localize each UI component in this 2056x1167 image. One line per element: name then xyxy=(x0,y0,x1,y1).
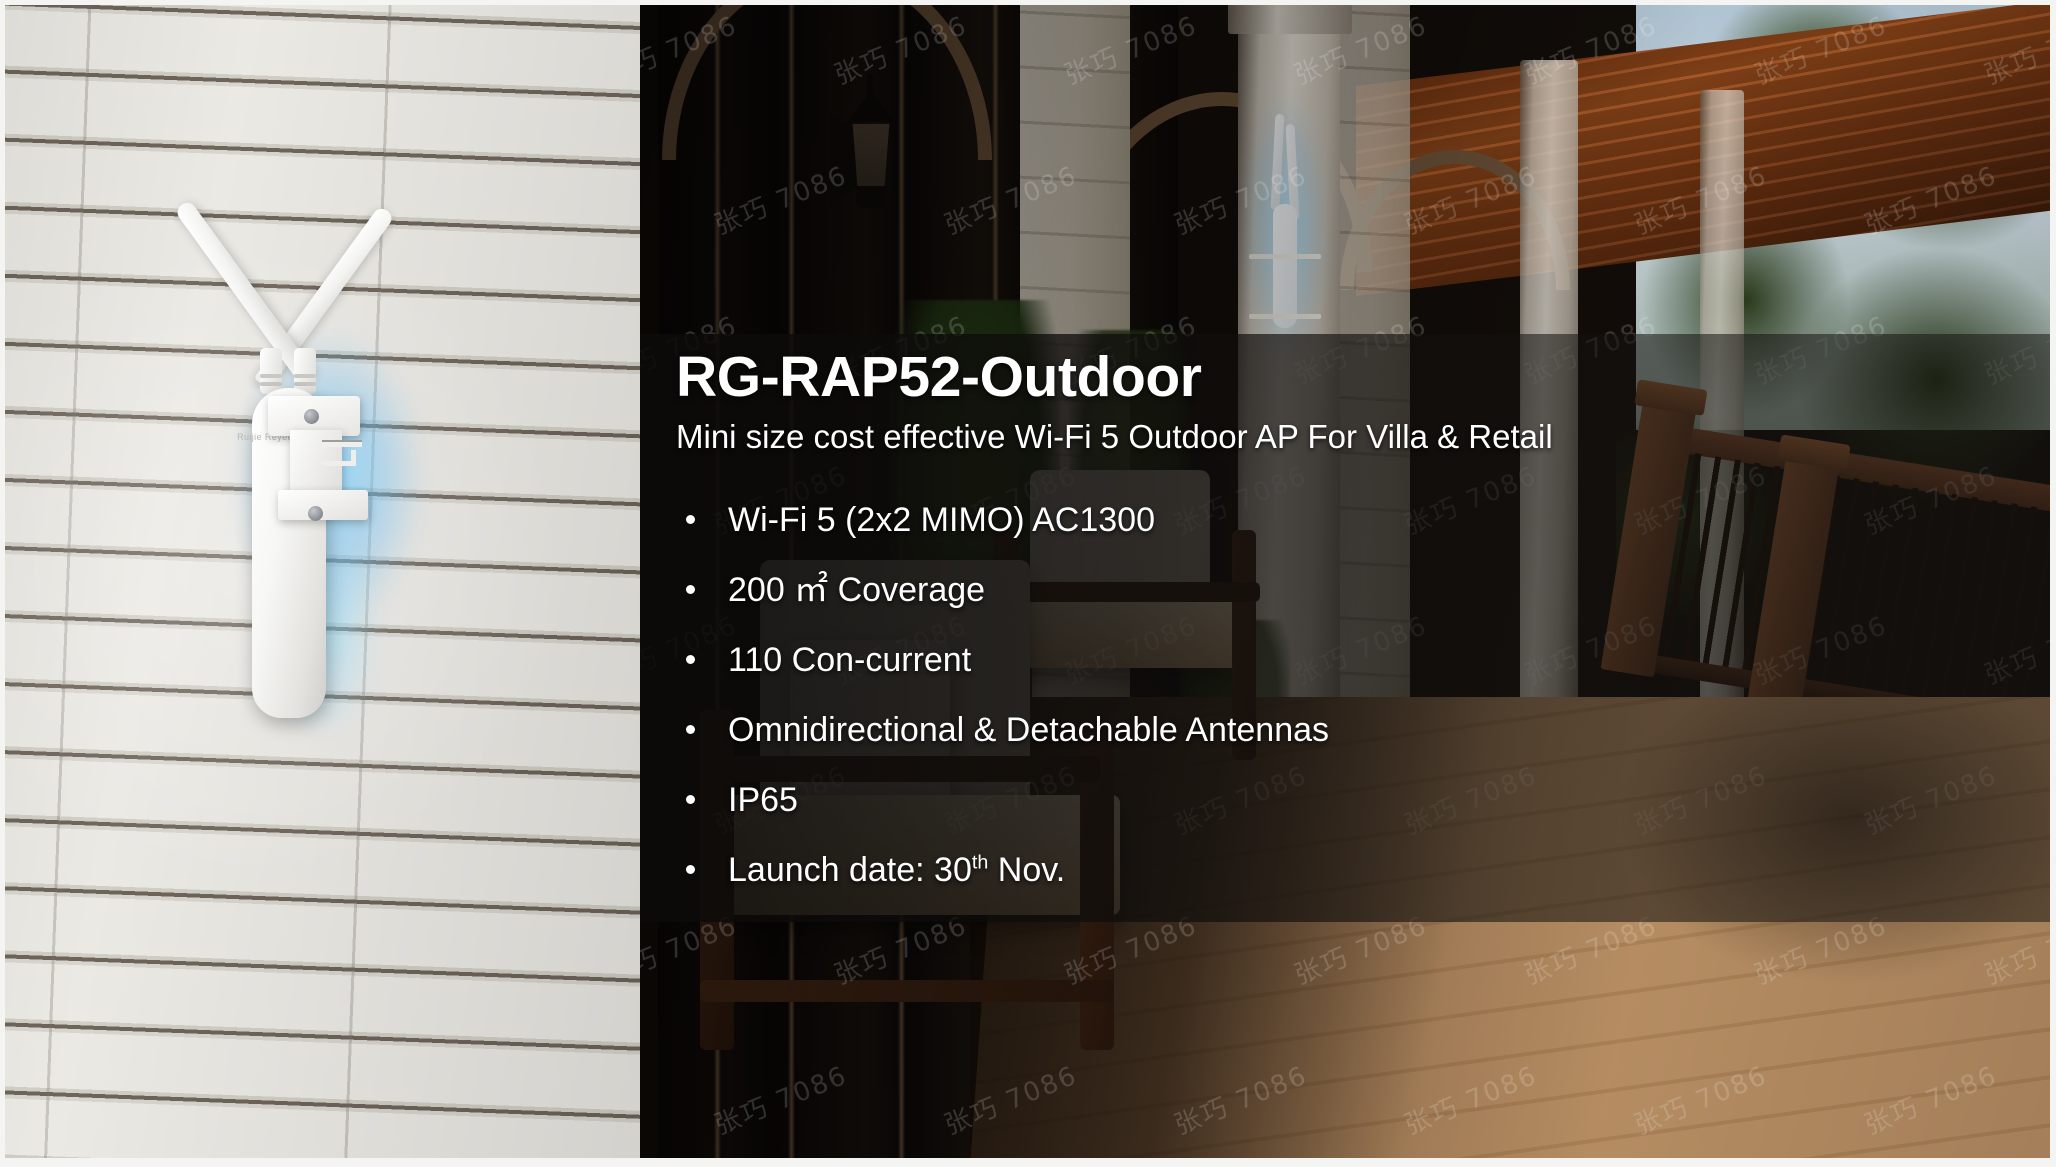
bullet-dot-icon xyxy=(686,655,695,664)
mounting-strap xyxy=(1249,254,1321,259)
bullet-dot-icon xyxy=(686,795,695,804)
antenna-base-left xyxy=(260,348,282,394)
access-point-on-pillar xyxy=(1262,108,1308,338)
bracket-bottom-plate xyxy=(278,490,368,520)
bullet-dot-icon xyxy=(686,725,695,734)
feature-label: Wi-Fi 5 (2x2 MIMO) AC1300 xyxy=(728,501,1155,539)
product-subtitle: Mini size cost effective Wi-Fi 5 Outdoor… xyxy=(676,418,2016,457)
feature-bullet-item: Omnidirectional & Detachable Antennas xyxy=(676,713,2016,747)
antenna-ring xyxy=(260,374,282,378)
antenna-ring xyxy=(294,374,316,378)
feature-bullet-list: Wi-Fi 5 (2x2 MIMO) AC1300200 ㎡ Coverage1… xyxy=(676,503,2016,887)
feature-label: Launch date: 30th Nov. xyxy=(728,851,1065,889)
feature-bullet-item: IP65 xyxy=(676,783,2016,817)
lantern-arm xyxy=(830,114,856,204)
bullet-dot-icon xyxy=(686,865,695,874)
feature-label: Omnidirectional & Detachable Antennas xyxy=(728,711,1329,749)
lantern-spire xyxy=(867,74,873,94)
feature-label: 200 ㎡ Coverage xyxy=(728,571,985,609)
feature-bullet-item: 110 Con-current xyxy=(676,643,2016,677)
antenna-base-right xyxy=(294,348,316,394)
bullet-dot-icon xyxy=(686,515,695,524)
frame-edge-top xyxy=(0,0,2056,5)
screw-icon xyxy=(304,409,319,424)
bracket-hook xyxy=(322,450,356,466)
product-slide: Ruijie Reyee xyxy=(0,0,2056,1167)
lantern-base xyxy=(856,186,886,208)
feature-bullet-item: 200 ㎡ Coverage xyxy=(676,573,2016,607)
feature-label: 110 Con-current xyxy=(728,641,971,679)
antenna-ring xyxy=(260,382,282,386)
wall-lantern-icon xyxy=(836,68,906,238)
frame-edge-bottom xyxy=(0,1158,2056,1167)
wall-mount-bracket xyxy=(268,396,368,526)
antenna-ring xyxy=(294,382,316,386)
lantern-cap xyxy=(846,90,896,124)
ordinal-suffix: th xyxy=(972,851,988,873)
window-arch xyxy=(662,0,992,160)
screw-icon xyxy=(308,506,323,521)
product-title: RG-RAP52-Outdoor xyxy=(676,348,2016,408)
chair-stretcher xyxy=(700,980,1114,1002)
frame-edge-right xyxy=(2050,0,2056,1167)
feature-bullet-item: Wi-Fi 5 (2x2 MIMO) AC1300 xyxy=(676,503,2016,537)
left-product-photo-panel: Ruijie Reyee xyxy=(0,0,640,1167)
mounting-strap xyxy=(1249,314,1321,319)
feature-bullet-item: Launch date: 30th Nov. xyxy=(676,853,2016,887)
bracket-arm xyxy=(322,440,362,447)
feature-label: IP65 xyxy=(728,781,798,819)
bullet-dot-icon xyxy=(686,585,695,594)
frame-edge-left xyxy=(0,0,5,1167)
lantern-glass xyxy=(850,122,892,188)
pillar-capital xyxy=(1228,0,1352,34)
ap-body xyxy=(1273,204,1297,328)
text-content-block: RG-RAP52-Outdoor Mini size cost effectiv… xyxy=(676,348,2016,923)
